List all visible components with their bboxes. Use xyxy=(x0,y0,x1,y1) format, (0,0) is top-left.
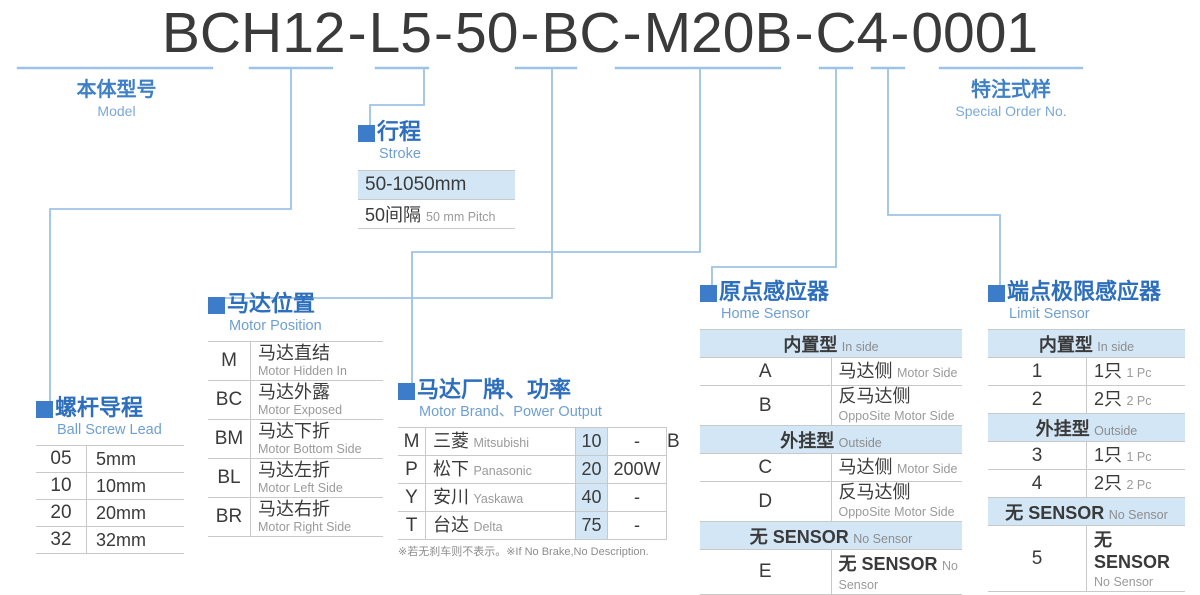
power-value-cell: - xyxy=(608,484,667,512)
motor-position-cn: 马达下折 xyxy=(258,421,383,442)
table-row[interactable]: 20 20mm xyxy=(36,500,184,527)
motor-position-code-cell: BC xyxy=(208,381,251,420)
brand-code-cell: Y xyxy=(398,484,426,512)
home-sensor-value-cell: 马达侧 Motor Side xyxy=(831,358,962,386)
motor-position-cn: 马达直结 xyxy=(258,343,383,364)
limit-sensor-value-cell: 2只 2 Pc xyxy=(1087,470,1186,498)
brand-en: Delta xyxy=(473,520,502,534)
limit-sensor-code-cell: 4 xyxy=(988,470,1087,498)
group-motor-brand-heading: 马达厂牌、功率 xyxy=(398,378,667,403)
limit-sensor-en: 1 Pc xyxy=(1126,366,1151,380)
table-row-band: 外挂型 Outside xyxy=(988,414,1185,442)
lead-value-cell: 5mm xyxy=(87,446,185,473)
power-value-cell: - xyxy=(608,428,667,456)
table-row[interactable]: D 反马达侧 OppoSite Motor Side xyxy=(700,482,962,522)
home-sensor-band: 外挂型 Outside xyxy=(700,426,962,454)
table-row[interactable]: 1 1只 1 Pc xyxy=(988,358,1185,386)
group-ball-screw-lead-heading: 螺杆导程 xyxy=(36,396,184,421)
group-special-order-en: Special Order No. xyxy=(930,103,1092,119)
group-model-en: Model xyxy=(43,103,190,119)
power-value-cell: - xyxy=(608,512,667,540)
group-motor-position-heading: 马达位置 xyxy=(208,292,383,317)
power-code-cell: 40 xyxy=(576,484,608,512)
table-row[interactable]: P 松下 Panasonic 20 200W xyxy=(398,456,667,484)
limit-sensor-cn: 1只 xyxy=(1094,361,1122,381)
home-sensor-band-en: No Sensor xyxy=(853,532,912,546)
brand-en: Mitsubishi xyxy=(473,436,529,450)
table-motor-brand: M 三菱 Mitsubishi 10 - B P 松下 Panasonic 20… xyxy=(398,427,667,540)
motor-position-code-cell: BL xyxy=(208,459,251,498)
brand-en: Yaskawa xyxy=(473,492,523,506)
table-row[interactable]: A 马达侧 Motor Side xyxy=(700,358,962,386)
home-sensor-code-cell: B xyxy=(700,386,831,426)
home-sensor-band-en: In side xyxy=(842,340,879,354)
limit-sensor-en: No Sensor xyxy=(1094,575,1153,589)
table-row[interactable]: T 台达 Delta 75 - xyxy=(398,512,667,540)
lead-code-cell: 10 xyxy=(36,473,87,500)
home-sensor-code-cell: C xyxy=(700,454,831,482)
table-row[interactable]: 10 10mm xyxy=(36,473,184,500)
power-code-cell: 20 xyxy=(576,456,608,484)
group-limit-sensor: 端点极限感应器 Limit Sensor 内置型 In side 1 1只 1 … xyxy=(988,280,1185,592)
table-row-band: 内置型 In side xyxy=(988,330,1185,358)
bullet-square-icon xyxy=(358,125,375,142)
group-model: 本体型号 Model xyxy=(43,78,190,119)
table-row-band: 外挂型 Outside xyxy=(700,426,962,454)
table-stroke: 50-1050mm 50间隔 50 mm Pitch xyxy=(358,170,515,229)
table-ball-screw-lead: 05 5mm 10 10mm 20 20mm 32 32mm xyxy=(36,445,184,554)
brand-cn: 松下 xyxy=(433,459,469,479)
motor-position-cn: 马达外露 xyxy=(258,382,383,403)
lead-value-cell: 32mm xyxy=(87,527,185,554)
group-limit-sensor-cn: 端点极限感应器 xyxy=(1007,280,1161,305)
limit-sensor-band-cn: 无 SENSOR xyxy=(1005,503,1104,523)
table-row-band: 无 SENSOR No Sensor xyxy=(700,522,962,550)
table-row[interactable]: 32 32mm xyxy=(36,527,184,554)
home-sensor-band: 无 SENSOR No Sensor xyxy=(700,522,962,550)
limit-sensor-band: 外挂型 Outside xyxy=(988,414,1185,442)
power-code-cell: 75 xyxy=(576,512,608,540)
home-sensor-band-cn: 内置型 xyxy=(783,335,837,355)
brand-cn: 台达 xyxy=(433,515,469,535)
table-row[interactable]: 50间隔 50 mm Pitch xyxy=(358,200,515,229)
motor-position-value-cell: 马达右折 Motor Right Side xyxy=(251,498,384,537)
home-sensor-value-cell: 反马达侧 OppoSite Motor Side xyxy=(831,482,962,522)
limit-sensor-cn: 2只 xyxy=(1094,473,1122,493)
home-sensor-code-cell: D xyxy=(700,482,831,522)
home-sensor-code-cell: E xyxy=(700,550,831,595)
table-row[interactable]: 5 无 SENSOR No Sensor xyxy=(988,526,1185,592)
home-sensor-band-en: Outside xyxy=(839,436,882,450)
brand-code-cell: M xyxy=(398,428,426,456)
stroke-range-cell: 50-1050mm xyxy=(358,171,515,200)
home-sensor-en: OppoSite Motor Side xyxy=(839,409,955,423)
table-row[interactable]: 50-1050mm xyxy=(358,171,515,200)
lead-code-cell: 20 xyxy=(36,500,87,527)
group-model-cn: 本体型号 xyxy=(43,78,190,102)
table-row[interactable]: 3 1只 1 Pc xyxy=(988,442,1185,470)
home-sensor-cn: 马达侧 xyxy=(839,361,893,381)
table-motor-position: M 马达直结 Motor Hidden In BC 马达外露 Motor Exp… xyxy=(208,341,383,537)
group-home-sensor-en: Home Sensor xyxy=(721,306,962,323)
motor-position-en: Motor Exposed xyxy=(258,403,383,417)
limit-sensor-code-cell: 1 xyxy=(988,358,1087,386)
table-row[interactable]: BL 马达左折 Motor Left Side xyxy=(208,459,383,498)
motor-position-value-cell: 马达下折 Motor Bottom Side xyxy=(251,420,384,459)
brand-cn: 安川 xyxy=(433,487,469,507)
table-row[interactable]: Y 安川 Yaskawa 40 - xyxy=(398,484,667,512)
motor-position-value-cell: 马达外露 Motor Exposed xyxy=(251,381,384,420)
home-sensor-en: OppoSite Motor Side xyxy=(839,505,955,519)
motor-position-cn: 马达左折 xyxy=(258,460,383,481)
home-sensor-value-cell: 反马达侧 OppoSite Motor Side xyxy=(831,386,962,426)
limit-sensor-value-cell: 1只 1 Pc xyxy=(1087,442,1186,470)
limit-sensor-en: 2 Pc xyxy=(1126,394,1151,408)
home-sensor-en: Motor Side xyxy=(897,366,957,380)
group-special-order-cn: 特注式样 xyxy=(930,78,1092,102)
group-ball-screw-lead-en: Ball Screw Lead xyxy=(57,422,184,439)
motor-position-en: Motor Bottom Side xyxy=(258,442,383,456)
table-row[interactable]: BR 马达右折 Motor Right Side xyxy=(208,498,383,537)
group-stroke-en: Stroke xyxy=(379,146,515,163)
home-sensor-cn: 反马达侧 xyxy=(839,482,911,502)
home-sensor-value-cell: 无 SENSOR No Sensor xyxy=(831,550,962,595)
group-motor-brand-cn: 马达厂牌、功率 xyxy=(417,378,571,403)
motor-position-code-cell: BM xyxy=(208,420,251,459)
motor-position-en: Motor Left Side xyxy=(258,481,383,495)
limit-sensor-value-cell: 2只 2 Pc xyxy=(1087,386,1186,414)
lead-code-cell: 05 xyxy=(36,446,87,473)
home-sensor-en: Motor Side xyxy=(897,462,957,476)
motor-position-en: Motor Right Side xyxy=(258,520,383,534)
limit-sensor-band: 无 SENSOR No Sensor xyxy=(988,498,1185,526)
table-row[interactable]: C 马达侧 Motor Side xyxy=(700,454,962,482)
group-home-sensor-cn: 原点感应器 xyxy=(719,280,829,305)
bullet-square-icon xyxy=(36,401,53,418)
group-stroke-heading: 行程 xyxy=(358,120,515,145)
group-motor-brand-en: Motor Brand、Power Output xyxy=(419,404,667,421)
table-row[interactable]: B 反马达侧 OppoSite Motor Side xyxy=(700,386,962,426)
group-ball-screw-lead-cn: 螺杆导程 xyxy=(55,396,143,421)
limit-sensor-code-cell: 3 xyxy=(988,442,1087,470)
group-stroke-cn: 行程 xyxy=(377,120,421,145)
lead-value-cell: 20mm xyxy=(87,500,185,527)
brand-name-cell: 安川 Yaskawa xyxy=(426,484,576,512)
group-limit-sensor-en: Limit Sensor xyxy=(1009,306,1185,323)
group-motor-position-en: Motor Position xyxy=(229,318,383,335)
home-sensor-band: 内置型 In side xyxy=(700,330,962,358)
group-motor-brand: 马达厂牌、功率 Motor Brand、Power Output M 三菱 Mi… xyxy=(398,378,667,559)
lead-value-cell: 10mm xyxy=(87,473,185,500)
bullet-square-icon xyxy=(398,383,415,400)
motor-position-en: Motor Hidden In xyxy=(258,364,383,378)
motor-position-code-cell: M xyxy=(208,342,251,381)
stroke-pitch-cell: 50间隔 50 mm Pitch xyxy=(358,200,515,229)
bullet-square-icon xyxy=(700,285,717,302)
limit-sensor-band-en: In side xyxy=(1097,340,1134,354)
table-row[interactable]: M 马达直结 Motor Hidden In xyxy=(208,342,383,381)
bullet-square-icon xyxy=(208,297,225,314)
brand-name-cell: 台达 Delta xyxy=(426,512,576,540)
table-row[interactable]: E 无 SENSOR No Sensor xyxy=(700,550,962,595)
diagram-canvas: BCH12-L5-50-BC-M20B-C4-0001 xyxy=(0,0,1200,575)
table-row[interactable]: BC 马达外露 Motor Exposed xyxy=(208,381,383,420)
table-home-sensor: 内置型 In side A 马达侧 Motor Side B 反马达侧 Oppo… xyxy=(700,329,962,595)
table-row[interactable]: BM 马达下折 Motor Bottom Side xyxy=(208,420,383,459)
stroke-pitch-en: 50 mm Pitch xyxy=(426,210,495,224)
limit-sensor-value-cell: 1只 1 Pc xyxy=(1087,358,1186,386)
home-sensor-cn: 反马达侧 xyxy=(839,386,911,406)
stroke-pitch-cn: 50间隔 xyxy=(365,205,421,225)
group-motor-position: 马达位置 Motor Position M 马达直结 Motor Hidden … xyxy=(208,292,383,537)
table-row[interactable]: 05 5mm xyxy=(36,446,184,473)
limit-sensor-code-cell: 5 xyxy=(988,526,1087,592)
bullet-square-icon xyxy=(988,285,1005,302)
brand-code-cell: P xyxy=(398,456,426,484)
table-limit-sensor: 内置型 In side 1 1只 1 Pc 2 2只 2 Pc 外挂型 Outs… xyxy=(988,329,1185,592)
group-motor-position-cn: 马达位置 xyxy=(227,292,315,317)
limit-sensor-band-cn: 内置型 xyxy=(1039,335,1093,355)
limit-sensor-band-cn: 外挂型 xyxy=(1036,419,1090,439)
motor-position-cn: 马达右折 xyxy=(258,499,383,520)
lead-code-cell: 32 xyxy=(36,527,87,554)
limit-sensor-cn: 2只 xyxy=(1094,389,1122,409)
home-sensor-cn: 无 SENSOR xyxy=(839,554,938,574)
brand-name-cell: 三菱 Mitsubishi xyxy=(426,428,576,456)
brand-name-cell: 松下 Panasonic xyxy=(426,456,576,484)
table-row[interactable]: M 三菱 Mitsubishi 10 - B xyxy=(398,428,667,456)
group-ball-screw-lead: 螺杆导程 Ball Screw Lead 05 5mm 10 10mm 20 2… xyxy=(36,396,184,554)
limit-sensor-en: 1 Pc xyxy=(1126,450,1151,464)
group-special-order: 特注式样 Special Order No. xyxy=(930,78,1092,119)
group-home-sensor-heading: 原点感应器 xyxy=(700,280,962,305)
motor-position-value-cell: 马达左折 Motor Left Side xyxy=(251,459,384,498)
brand-en: Panasonic xyxy=(473,464,531,478)
limit-sensor-en: 2 Pc xyxy=(1126,478,1151,492)
limit-sensor-band-en: Outside xyxy=(1094,424,1137,438)
group-stroke: 行程 Stroke 50-1050mm 50间隔 50 mm Pitch xyxy=(358,120,515,229)
limit-sensor-cn: 1只 xyxy=(1094,445,1122,465)
home-sensor-code-cell: A xyxy=(700,358,831,386)
brand-cn: 三菱 xyxy=(433,431,469,451)
motor-position-code-cell: BR xyxy=(208,498,251,537)
limit-sensor-code-cell: 2 xyxy=(988,386,1087,414)
group-limit-sensor-heading: 端点极限感应器 xyxy=(988,280,1185,305)
home-sensor-band-cn: 无 SENSOR xyxy=(750,527,849,547)
limit-sensor-band-en: No Sensor xyxy=(1109,508,1168,522)
limit-sensor-cn: 无 SENSOR xyxy=(1094,530,1170,572)
table-row[interactable]: 2 2只 2 Pc xyxy=(988,386,1185,414)
home-sensor-value-cell: 马达侧 Motor Side xyxy=(831,454,962,482)
limit-sensor-value-cell: 无 SENSOR No Sensor xyxy=(1087,526,1186,592)
group-home-sensor: 原点感应器 Home Sensor 内置型 In side A 马达侧 Moto… xyxy=(700,280,962,595)
table-row-band: 内置型 In side xyxy=(700,330,962,358)
table-row-band: 无 SENSOR No Sensor xyxy=(988,498,1185,526)
home-sensor-cn: 马达侧 xyxy=(839,457,893,477)
limit-sensor-band: 内置型 In side xyxy=(988,330,1185,358)
home-sensor-band-cn: 外挂型 xyxy=(780,431,834,451)
table-row[interactable]: 4 2只 2 Pc xyxy=(988,470,1185,498)
motor-brand-note: ※若无刹车则不表示。※If No Brake,No Description. xyxy=(398,543,667,559)
motor-position-value-cell: 马达直结 Motor Hidden In xyxy=(251,342,384,381)
power-value-cell: 200W xyxy=(608,456,667,484)
brand-code-cell: T xyxy=(398,512,426,540)
power-code-cell: 10 xyxy=(576,428,608,456)
